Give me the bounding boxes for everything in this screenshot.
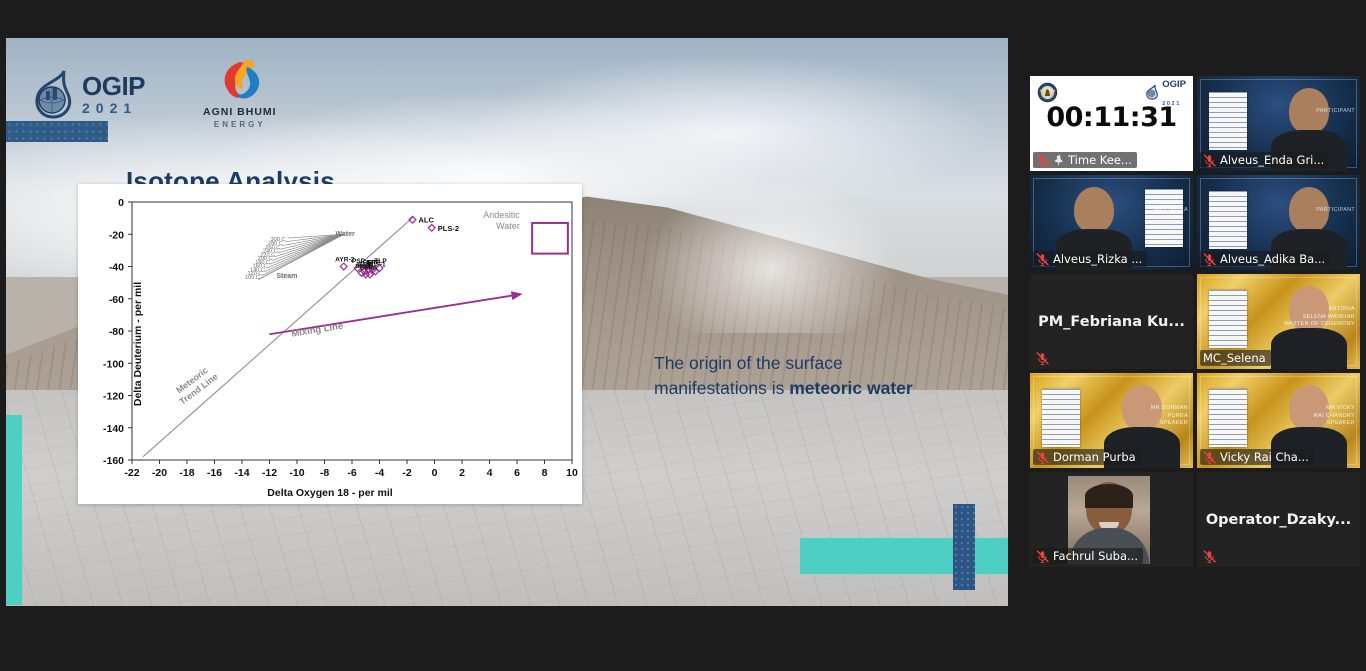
svg-text:-80: -80 — [109, 326, 124, 338]
participant-tile[interactable]: MRS. RIZKA Alveus_Rizka ... — [1030, 175, 1193, 270]
agni-name: AGNI BHUMI — [203, 106, 277, 118]
tile-name-tag: Alveus_Adika Ba... — [1200, 251, 1330, 267]
accent-bar-left-teal — [6, 415, 22, 605]
participant-tile[interactable]: PARTICIPANT Alveus_Adika Ba... — [1197, 175, 1360, 270]
svg-text:Water: Water — [496, 221, 520, 231]
slide-callout: The origin of the surface manifestations… — [654, 351, 964, 401]
slide-logos: OGIP 2021 AGNI BHUMI ENERGY — [30, 58, 277, 129]
callout-line-2-bold: meteoric water — [789, 378, 913, 398]
svg-text:Steam: Steam — [276, 273, 297, 280]
isotope-scatter-svg: -22-20-18-16-14-12-10-8-6-4-202468100-20… — [78, 184, 582, 504]
participant-name: Fachrul Suba... — [1053, 549, 1138, 563]
tile-name-tag: Vicky Rai Cha... — [1200, 449, 1314, 465]
isotope-chart-plot: -22-20-18-16-14-12-10-8-6-4-202468100-20… — [78, 184, 582, 504]
svg-text:Water: Water — [336, 231, 355, 238]
participant-name: Alveus_Rizka ... — [1053, 252, 1142, 266]
svg-text:2: 2 — [459, 467, 465, 479]
callout-line-2-plain: manifestations is — [654, 378, 789, 398]
svg-text:-4: -4 — [375, 467, 384, 479]
svg-text:Andesitic: Andesitic — [483, 210, 520, 220]
svg-text:-40: -40 — [109, 262, 124, 274]
svg-text:-8: -8 — [320, 467, 329, 479]
svg-text:-100: -100 — [103, 358, 124, 370]
tile-side-caption: PARTICIPANT — [1316, 207, 1355, 214]
certificate-poster — [1145, 189, 1183, 247]
svg-text:-18: -18 — [179, 467, 194, 479]
ogip-wordmark: OGIP 2021 — [82, 73, 145, 115]
svg-text:STA: STA — [365, 265, 378, 272]
ogip-flame-globe-icon — [1145, 84, 1159, 100]
mute-icon — [1203, 451, 1216, 464]
organization-seal-icon — [1037, 82, 1058, 103]
agni-bhumi-logo: AGNI BHUMI ENERGY — [203, 58, 277, 129]
svg-text:-60: -60 — [109, 294, 124, 306]
slide-background-steam-plume — [627, 118, 988, 334]
ogip-logo: OGIP 2021 — [30, 69, 145, 119]
tile-side-caption: MR DORMANPURBASPEAKER — [1151, 405, 1188, 427]
tile-name-tag: Alveus_Rizka ... — [1033, 251, 1147, 267]
callout-line-1: The origin of the surface — [654, 353, 843, 373]
svg-text:0: 0 — [432, 467, 438, 479]
svg-text:-140: -140 — [103, 423, 124, 435]
participant-name: MC_Selena — [1203, 351, 1266, 365]
svg-text:-16: -16 — [207, 467, 222, 479]
agni-subtitle: ENERGY — [214, 120, 266, 129]
mute-icon — [1036, 352, 1049, 365]
svg-text:-20: -20 — [109, 229, 124, 241]
tile-side-caption: MR VICKYRAI CHANDRYSPEAKER — [1314, 405, 1355, 427]
mute-icon — [1203, 550, 1216, 563]
svg-text:PLS-2: PLS-2 — [438, 224, 459, 233]
svg-text:-120: -120 — [103, 391, 124, 403]
svg-text:10: 10 — [566, 467, 578, 479]
mute-icon — [1036, 451, 1049, 464]
svg-text:4: 4 — [487, 467, 493, 479]
mute-icon — [1203, 154, 1216, 167]
participant-face — [1074, 187, 1114, 233]
participant-tile-timekeeper[interactable]: OGIP 2021 00:11:31 Time Kee... — [1030, 76, 1193, 171]
svg-text:-2: -2 — [402, 467, 411, 479]
certificate-poster — [1209, 290, 1247, 348]
mute-icon — [1036, 154, 1049, 167]
svg-text:-22: -22 — [124, 467, 139, 479]
participant-name: Alveus_Adika Ba... — [1220, 252, 1325, 266]
pin-icon — [1053, 154, 1064, 167]
tile-side-caption: MRS. RIZKA — [1154, 207, 1188, 214]
accent-bar-bottom-navy — [953, 504, 975, 590]
certificate-poster — [1042, 389, 1080, 447]
tile-side-caption: PARTICIPANT — [1316, 108, 1355, 115]
participant-tile[interactable]: Operator_Dzaky... — [1197, 472, 1360, 567]
accent-bar-bottom-teal — [800, 538, 1008, 574]
mute-icon — [1036, 253, 1049, 266]
certificate-poster — [1209, 191, 1247, 249]
ogip-year: 2021 — [82, 101, 145, 115]
participant-name: Operator_Dzaky... — [1197, 472, 1360, 567]
participant-tile[interactable]: MR DORMANPURBASPEAKER Dorman Purba — [1030, 373, 1193, 468]
certificate-poster — [1209, 389, 1247, 447]
participant-name: Alveus_Enda Gri... — [1220, 153, 1324, 167]
tile-name-tag: Time Kee... — [1033, 152, 1137, 168]
participant-tile[interactable]: Fachrul Suba... — [1030, 472, 1193, 567]
svg-text:-12: -12 — [262, 467, 277, 479]
participant-tile[interactable]: PM_Febriana Ku... — [1030, 274, 1193, 369]
participant-body — [1271, 328, 1347, 369]
participant-tile[interactable]: ANTONIASELENA WANFIARMASTER OF CEREMONY … — [1197, 274, 1360, 369]
svg-text:ALC: ALC — [419, 216, 435, 225]
svg-text:-14: -14 — [234, 467, 249, 479]
mute-icon — [1203, 253, 1216, 266]
y-axis-title: Delta Deuterium - per mil — [132, 282, 144, 406]
svg-text:-160: -160 — [103, 455, 124, 467]
timekeeper-clock: 00:11:31 — [1030, 102, 1193, 133]
tile-name-tag — [1033, 351, 1054, 366]
shared-screen-slide[interactable]: OGIP 2021 AGNI BHUMI ENERGY Isotope Anal… — [6, 38, 1008, 606]
svg-text:6: 6 — [514, 467, 520, 479]
screen: OGIP 2021 AGNI BHUMI ENERGY Isotope Anal… — [0, 0, 1366, 671]
tile-name-tag: MC_Selena — [1200, 350, 1271, 366]
svg-text:-6: -6 — [347, 467, 356, 479]
svg-text:-10: -10 — [289, 467, 304, 479]
svg-text:-20: -20 — [152, 467, 167, 479]
ogip-flame-globe-icon — [30, 69, 76, 119]
svg-text:300 C: 300 C — [271, 237, 286, 243]
agni-swirl-icon — [215, 58, 265, 104]
participant-tile[interactable]: MR VICKYRAI CHANDRYSPEAKER Vicky Rai Cha… — [1197, 373, 1360, 468]
svg-text:8: 8 — [542, 467, 548, 479]
participant-name: Time Kee... — [1068, 153, 1132, 167]
tile-name-tag: Dorman Purba — [1033, 449, 1141, 465]
tile-name-tag: Alveus_Enda Gri... — [1200, 152, 1329, 168]
ogip-title: OGIP — [82, 73, 145, 99]
participant-name: PM_Febriana Ku... — [1030, 274, 1193, 369]
participant-name: Vicky Rai Cha... — [1220, 450, 1309, 464]
tile-name-tag — [1200, 549, 1221, 564]
participant-name: Dorman Purba — [1053, 450, 1136, 464]
svg-text:0: 0 — [118, 197, 124, 209]
tile-side-caption: ANTONIASELENA WANFIARMASTER OF CEREMONY — [1284, 306, 1355, 328]
isotope-chart-card: -22-20-18-16-14-12-10-8-6-4-202468100-20… — [78, 184, 582, 504]
x-axis-title: Delta Oxygen 18 - per mil — [78, 487, 582, 499]
tile-name-tag: Fachrul Suba... — [1033, 548, 1143, 564]
mute-icon — [1036, 550, 1049, 563]
certificate-poster — [1209, 92, 1247, 150]
participant-sidebar: OGIP 2021 00:11:31 Time Kee... PARTICIPA… — [1022, 0, 1366, 671]
participant-tile[interactable]: PARTICIPANT Alveus_Enda Gri... — [1197, 76, 1360, 171]
participant-grid: OGIP 2021 00:11:31 Time Kee... PARTICIPA… — [1030, 76, 1360, 567]
